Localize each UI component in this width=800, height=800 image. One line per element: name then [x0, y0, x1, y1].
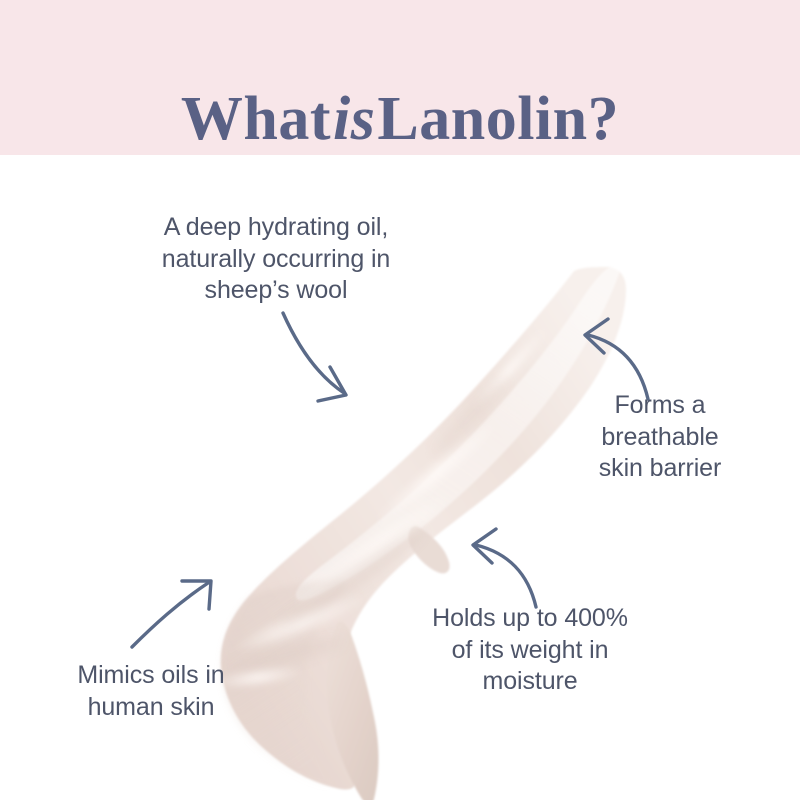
arrow-mimics-skin-oils — [132, 581, 211, 647]
arrow-holds-moisture — [473, 529, 536, 607]
callout-holds-moisture: Holds up to 400% of its weight in moistu… — [382, 603, 678, 698]
page-title-part1: What — [181, 88, 331, 150]
callout-breathable-barrier: Forms a breathable skin barrier — [548, 390, 772, 485]
page-title-emphasis: is — [331, 88, 377, 150]
arrow-breathable-barrier — [585, 319, 648, 399]
page-title-part2: Lanolin? — [377, 88, 619, 150]
lanolin-infographic: What is Lanolin? — [0, 0, 800, 800]
callout-mimics-skin-oils: Mimics oils in human skin — [26, 660, 276, 723]
callout-deep-hydrating-oil: A deep hydrating oil, naturally occurrin… — [108, 212, 444, 307]
illustration-canvas: A deep hydrating oil, naturally occurrin… — [0, 155, 800, 800]
arrow-deep-hydrating-oil — [283, 313, 346, 401]
